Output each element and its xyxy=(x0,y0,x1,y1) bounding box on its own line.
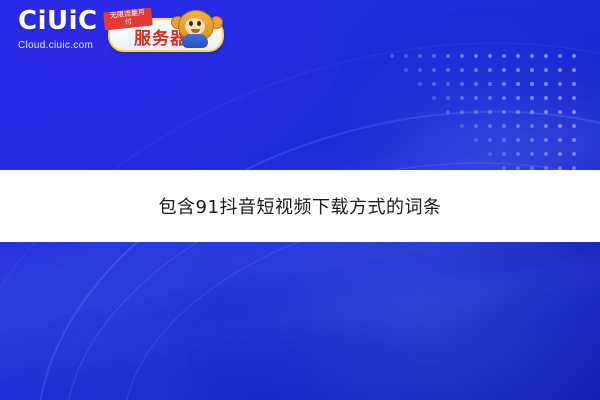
title-band: 包含91抖音短视频下载方式的词条 xyxy=(0,170,600,242)
dot xyxy=(530,54,534,58)
dot xyxy=(530,110,534,114)
dot xyxy=(460,96,464,100)
dot xyxy=(530,138,534,142)
dot xyxy=(572,68,576,72)
dot xyxy=(446,68,450,72)
dot xyxy=(558,152,562,156)
dot xyxy=(474,54,478,58)
dot xyxy=(460,68,464,72)
dot xyxy=(530,124,534,128)
dot xyxy=(474,138,478,142)
dot xyxy=(516,152,520,156)
dot xyxy=(502,96,506,100)
mascot-eye-right xyxy=(197,21,201,26)
dot xyxy=(544,152,548,156)
dot xyxy=(488,82,492,86)
dot xyxy=(432,68,436,72)
dot xyxy=(572,152,576,156)
dot xyxy=(502,54,506,58)
dot xyxy=(502,82,506,86)
dot xyxy=(530,152,534,156)
dot xyxy=(474,82,478,86)
dot xyxy=(488,54,492,58)
dot xyxy=(432,82,436,86)
dot xyxy=(572,82,576,86)
dot xyxy=(474,124,478,128)
dot xyxy=(516,54,520,58)
dot xyxy=(432,54,436,58)
logo-subtitle: Cloud.ciuic.com xyxy=(18,40,118,51)
dot xyxy=(446,82,450,86)
dot xyxy=(460,110,464,114)
dot xyxy=(544,138,548,142)
dot xyxy=(558,82,562,86)
dot xyxy=(390,54,394,58)
dot xyxy=(516,68,520,72)
dot xyxy=(474,68,478,72)
dot xyxy=(502,68,506,72)
dot xyxy=(446,96,450,100)
dot xyxy=(544,54,548,58)
dot-matrix-decoration xyxy=(370,54,600,174)
dot xyxy=(502,110,506,114)
dot xyxy=(544,110,548,114)
dot xyxy=(558,124,562,128)
banner-title: 包含91抖音短视频下载方式的词条 xyxy=(159,193,442,219)
dot xyxy=(558,96,562,100)
dot xyxy=(446,54,450,58)
dot xyxy=(474,96,478,100)
dot xyxy=(418,68,422,72)
mascot-body xyxy=(182,34,208,48)
dot xyxy=(530,68,534,72)
dot xyxy=(544,96,548,100)
dot xyxy=(488,124,492,128)
dot xyxy=(530,96,534,100)
dot xyxy=(558,68,562,72)
dot xyxy=(572,54,576,58)
dot xyxy=(502,152,506,156)
dot xyxy=(502,138,506,142)
dot xyxy=(488,152,492,156)
dot xyxy=(516,138,520,142)
dot xyxy=(404,68,408,72)
monkey-mascot-icon xyxy=(168,4,224,50)
dot xyxy=(418,54,422,58)
dot xyxy=(516,82,520,86)
dot xyxy=(488,96,492,100)
dot xyxy=(460,82,464,86)
dot xyxy=(544,82,548,86)
dot xyxy=(474,110,478,114)
dot xyxy=(558,54,562,58)
dot xyxy=(516,124,520,128)
dot xyxy=(530,82,534,86)
dot xyxy=(502,124,506,128)
dot xyxy=(544,68,548,72)
dot xyxy=(572,138,576,142)
dot xyxy=(572,110,576,114)
dot xyxy=(544,124,548,128)
dot xyxy=(558,138,562,142)
dot xyxy=(558,110,562,114)
dot xyxy=(516,96,520,100)
dot xyxy=(460,54,464,58)
dot xyxy=(432,96,436,100)
dot xyxy=(516,110,520,114)
dot xyxy=(488,68,492,72)
dot xyxy=(572,96,576,100)
dot xyxy=(488,110,492,114)
dot xyxy=(404,54,408,58)
dot xyxy=(572,124,576,128)
banner-image: CiUiC Cloud.ciuic.com 服务器 无限流量月付 包含91抖音短… xyxy=(0,0,600,400)
dot xyxy=(460,124,464,128)
dot xyxy=(418,82,422,86)
mascot-eye-left xyxy=(189,21,193,26)
dot xyxy=(488,138,492,142)
dot xyxy=(446,110,450,114)
